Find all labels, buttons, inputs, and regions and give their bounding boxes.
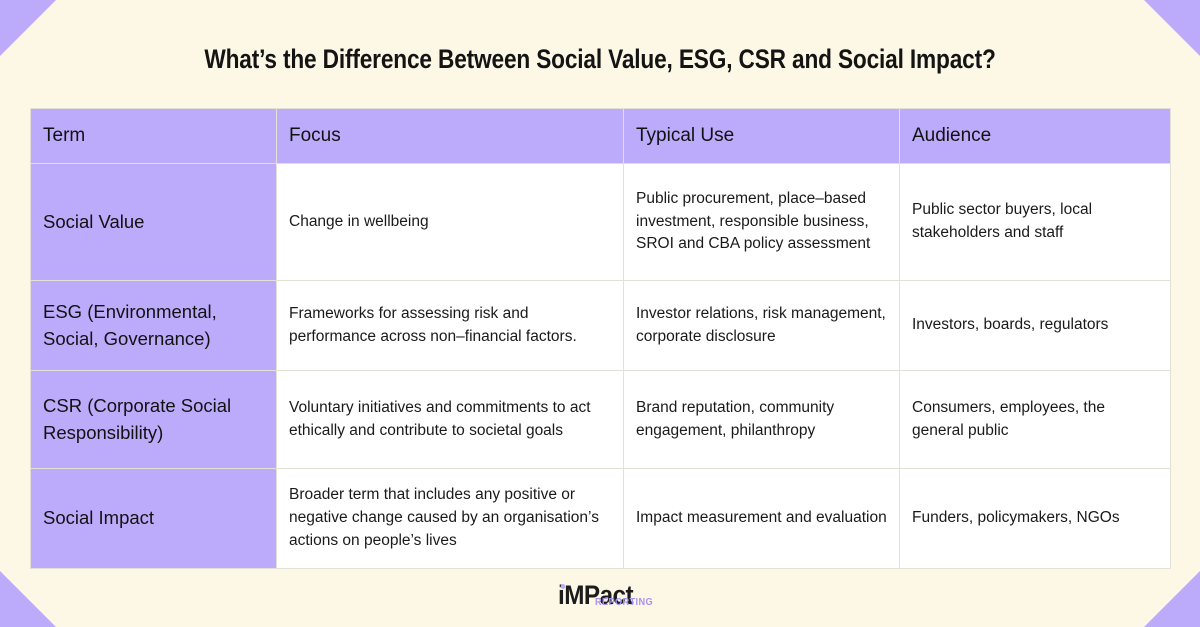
- table-row: ESG (Environmental, Social, Governance) …: [31, 281, 1171, 371]
- cell-term: CSR (Corporate Social Responsibility): [31, 371, 277, 469]
- corner-triangle-top-right: [1144, 0, 1200, 56]
- column-header-audience: Audience: [900, 109, 1171, 164]
- cell-focus: Change in wellbeing: [277, 164, 624, 281]
- cell-audience: Investors, boards, regulators: [900, 281, 1171, 371]
- brand-logo: iMPact REPORTING: [0, 582, 1200, 609]
- logo-inner: iMPact REPORTING: [558, 582, 641, 609]
- comparison-table: Term Focus Typical Use Audience Social V…: [30, 108, 1171, 569]
- comparison-table-wrapper: Term Focus Typical Use Audience Social V…: [30, 108, 1170, 569]
- logo-subtitle: REPORTING: [595, 598, 653, 608]
- cell-focus: Frameworks for assessing risk and perfor…: [277, 281, 624, 371]
- column-header-focus: Focus: [277, 109, 624, 164]
- table-header-row: Term Focus Typical Use Audience: [31, 109, 1171, 164]
- table-head: Term Focus Typical Use Audience: [31, 109, 1171, 164]
- cell-term: Social Impact: [31, 469, 277, 569]
- cell-audience: Funders, policymakers, NGOs: [900, 469, 1171, 569]
- cell-typical-use: Impact measurement and evaluation: [624, 469, 900, 569]
- corner-triangle-top-left: [0, 0, 56, 56]
- cell-term: Social Value: [31, 164, 277, 281]
- table-row: Social Impact Broader term that includes…: [31, 469, 1171, 569]
- table-row: CSR (Corporate Social Responsibility) Vo…: [31, 371, 1171, 469]
- cell-typical-use: Public procurement, place–based investme…: [624, 164, 900, 281]
- cell-focus: Voluntary initiatives and commitments to…: [277, 371, 624, 469]
- cell-focus: Broader term that includes any positive …: [277, 469, 624, 569]
- table-body: Social Value Change in wellbeing Public …: [31, 164, 1171, 569]
- cell-audience: Consumers, employees, the general public: [900, 371, 1171, 469]
- table-row: Social Value Change in wellbeing Public …: [31, 164, 1171, 281]
- cell-typical-use: Brand reputation, community engagement, …: [624, 371, 900, 469]
- infographic-canvas: What’s the Difference Between Social Val…: [0, 0, 1200, 627]
- cell-audience: Public sector buyers, local stakeholders…: [900, 164, 1171, 281]
- column-header-term: Term: [31, 109, 277, 164]
- cell-typical-use: Investor relations, risk management, cor…: [624, 281, 900, 371]
- cell-term: ESG (Environmental, Social, Governance): [31, 281, 277, 371]
- page-title: What’s the Difference Between Social Val…: [96, 44, 1104, 75]
- column-header-typical-use: Typical Use: [624, 109, 900, 164]
